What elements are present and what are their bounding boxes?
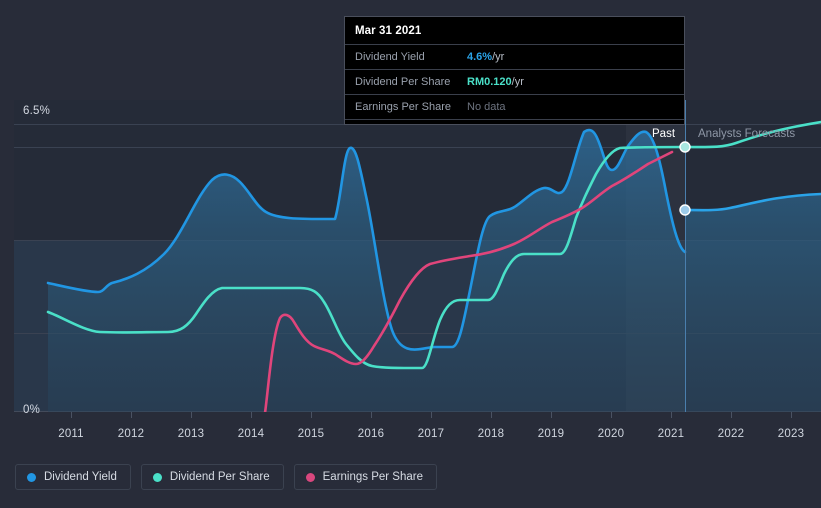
- tooltip-row-dividend-per-share: Dividend Per Share RM0.120/yr: [345, 69, 684, 94]
- legend-item-earnings-per-share[interactable]: Earnings Per Share: [294, 464, 437, 490]
- x-axis-label-2020: 2020: [598, 428, 624, 440]
- tooltip-footer-rule: [345, 119, 684, 124]
- analysts-forecasts-label: Analysts Forecasts: [698, 128, 795, 140]
- x-axis-label-2012: 2012: [118, 428, 144, 440]
- x-axis-label-2014: 2014: [238, 428, 264, 440]
- chart-legend: Dividend Yield Dividend Per Share Earnin…: [15, 464, 437, 490]
- tooltip-value-earnings-per-share: No data: [467, 101, 506, 113]
- x-axis-label-2011: 2011: [58, 428, 84, 440]
- legend-label-dividend-per-share: Dividend Per Share: [170, 471, 270, 483]
- y-axis-label-top: 6.5%: [23, 105, 50, 117]
- legend-item-dividend-yield[interactable]: Dividend Yield: [15, 464, 131, 490]
- tooltip-number-dividend-per-share: RM0.120: [467, 76, 512, 88]
- legend-dot-icon-dividend-per-share: [153, 473, 162, 482]
- legend-label-earnings-per-share: Earnings Per Share: [323, 471, 423, 483]
- tooltip-label-earnings-per-share: Earnings Per Share: [355, 101, 467, 113]
- tooltip-number-dividend-yield: 4.6%: [467, 51, 492, 63]
- x-axis-label-2016: 2016: [358, 428, 384, 440]
- tooltip-label-dividend-per-share: Dividend Per Share: [355, 76, 467, 88]
- legend-dot-icon-dividend-yield: [27, 473, 36, 482]
- x-axis-label-2017: 2017: [418, 428, 444, 440]
- tooltip-label-dividend-yield: Dividend Yield: [355, 51, 467, 63]
- legend-dot-icon-earnings-per-share: [306, 473, 315, 482]
- x-axis-label-2023: 2023: [778, 428, 804, 440]
- tooltip-unit-dividend-per-share: /yr: [512, 76, 524, 88]
- dividend-per-share-marker[interactable]: [680, 142, 690, 152]
- x-axis-label-2013: 2013: [178, 428, 204, 440]
- y-axis-label-bottom: 0%: [23, 404, 40, 416]
- tooltip-number-earnings-per-share: No data: [467, 101, 506, 113]
- tooltip-value-dividend-yield: 4.6%/yr: [467, 51, 504, 63]
- x-axis-label-2021: 2021: [658, 428, 684, 440]
- x-tick-marks: [72, 412, 792, 418]
- tooltip-date: Mar 31 2021: [345, 17, 684, 44]
- dividend-chart-widget: 6.5% 0% 2011 2012 2013 2014 2015 2016 20…: [0, 0, 821, 508]
- tooltip-unit-dividend-yield: /yr: [492, 51, 504, 63]
- past-label: Past: [652, 128, 675, 140]
- dividend-yield-marker[interactable]: [680, 205, 690, 215]
- x-axis-label-2022: 2022: [718, 428, 744, 440]
- chart-tooltip: Mar 31 2021 Dividend Yield 4.6%/yr Divid…: [344, 16, 685, 125]
- x-axis-label-2019: 2019: [538, 428, 564, 440]
- tooltip-row-earnings-per-share: Earnings Per Share No data: [345, 94, 684, 119]
- legend-label-dividend-yield: Dividend Yield: [44, 471, 117, 483]
- x-axis-label-2018: 2018: [478, 428, 504, 440]
- x-axis-label-2015: 2015: [298, 428, 324, 440]
- tooltip-row-dividend-yield: Dividend Yield 4.6%/yr: [345, 44, 684, 69]
- legend-item-dividend-per-share[interactable]: Dividend Per Share: [141, 464, 284, 490]
- tooltip-value-dividend-per-share: RM0.120/yr: [467, 76, 524, 88]
